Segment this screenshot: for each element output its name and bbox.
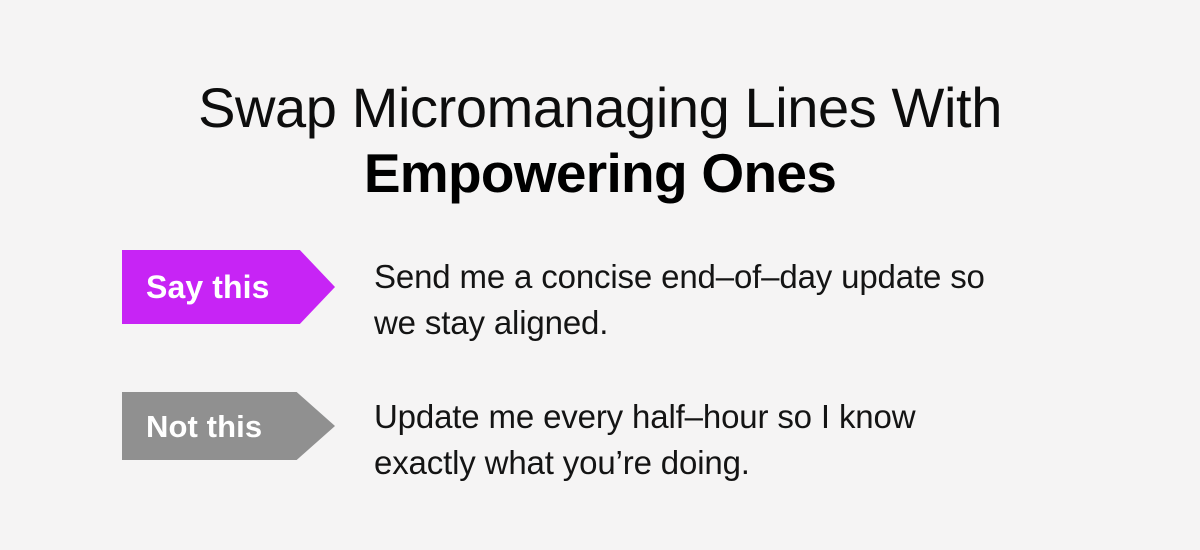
quote-say-this-line-1: Send me a concise end–of–day update so: [374, 254, 1074, 300]
quote-say-this: Send me a concise end–of–day update so w…: [374, 250, 1074, 346]
arrow-tag-label-say-this: Say this: [146, 271, 270, 303]
page-title: Swap Micromanaging Lines With Empowering…: [0, 76, 1200, 206]
slide-canvas: Swap Micromanaging Lines With Empowering…: [0, 0, 1200, 550]
arrow-tag-label-not-this: Not this: [146, 411, 262, 442]
arrow-tag-say-this: Say this: [122, 250, 335, 324]
comparison-row-say-this: Say this Send me a concise end–of–day up…: [0, 250, 1200, 346]
quote-say-this-line-2: we stay aligned.: [374, 300, 1074, 346]
tag-wrapper-not-this: Not this: [122, 392, 335, 460]
arrow-tag-not-this: Not this: [122, 392, 335, 460]
page-title-line-2: Empowering Ones: [0, 140, 1200, 206]
tag-wrapper-say-this: Say this: [122, 250, 335, 324]
page-title-line-1: Swap Micromanaging Lines With: [0, 76, 1200, 140]
quote-not-this: Update me every half–hour so I know exac…: [374, 392, 1074, 486]
quote-not-this-line-2: exactly what you’re doing.: [374, 440, 1074, 486]
comparison-row-not-this: Not this Update me every half–hour so I …: [0, 392, 1200, 486]
quote-not-this-line-1: Update me every half–hour so I know: [374, 394, 1074, 440]
